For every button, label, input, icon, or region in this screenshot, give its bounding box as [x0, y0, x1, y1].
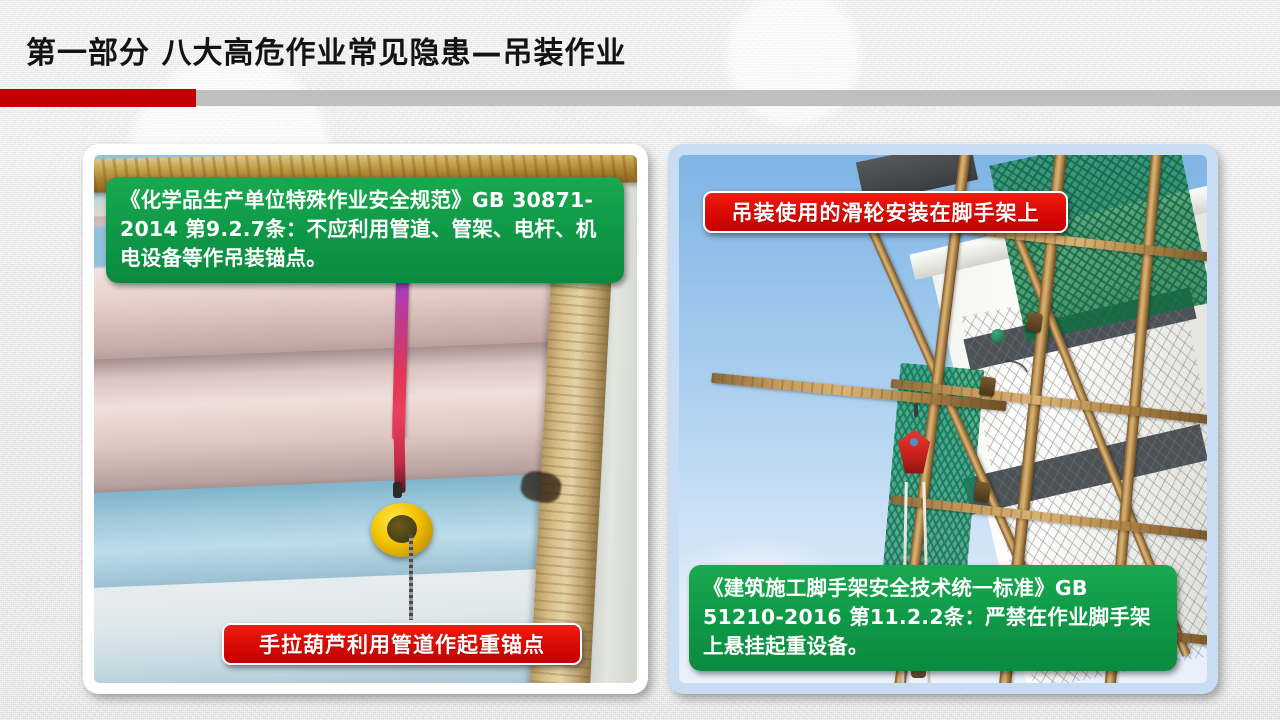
photo-hoist-chain: [409, 535, 413, 619]
rule-red-segment: [0, 89, 196, 107]
right-panel[interactable]: 吊装使用的滑轮安装在脚手架上 《建筑施工脚手架安全技术统一标准》GB 51210…: [668, 144, 1218, 694]
right-standard-text-box: 《建筑施工脚手架安全技术统一标准》GB 51210-2016 第11.2.2条：…: [689, 565, 1177, 671]
photo-sling-hook: [393, 482, 402, 498]
left-standard-text-box: 《化学品生产单位特殊作业安全规范》GB 30871-2014 第9.2.7条：不…: [106, 177, 624, 283]
right-caption-box: 吊装使用的滑轮安装在脚手架上: [703, 191, 1068, 233]
photo-net-knot: [991, 329, 1005, 343]
page-title: 第一部分 八大高危作业常见隐患—吊装作业: [26, 28, 626, 72]
left-photo: 《化学品生产单位特殊作业安全规范》GB 30871-2014 第9.2.7条：不…: [94, 155, 637, 683]
title-underline-rule: [0, 89, 1280, 107]
left-panel[interactable]: 《化学品生产单位特殊作业安全规范》GB 30871-2014 第9.2.7条：不…: [83, 144, 648, 694]
left-caption-box: 手拉葫芦利用管道作起重锚点: [222, 623, 582, 665]
right-photo: 吊装使用的滑轮安装在脚手架上 《建筑施工脚手架安全技术统一标准》GB 51210…: [679, 155, 1207, 683]
photo-scaffold-coupler-1: [979, 376, 996, 397]
photo-scaffold-coupler-3: [973, 481, 990, 502]
photo-lifting-sling-lower: [393, 414, 405, 493]
photo-pulley-hook: [914, 403, 918, 417]
rule-gray-segment: [196, 90, 1280, 106]
slide-canvas: 第一部分 八大高危作业常见隐患—吊装作业: [0, 0, 1280, 720]
